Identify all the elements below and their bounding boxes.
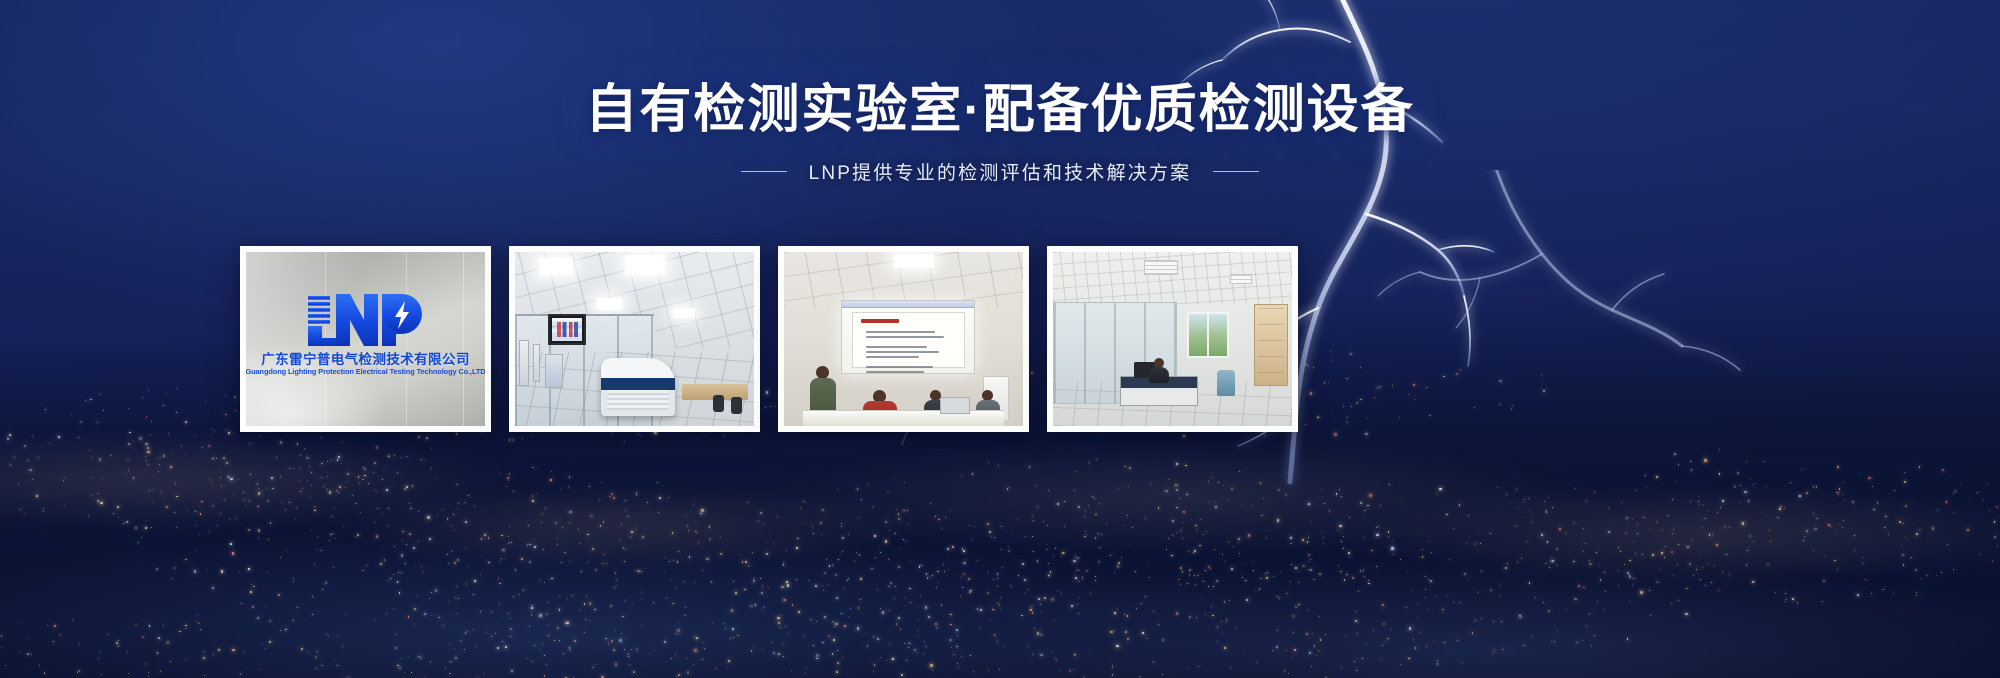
company-name-english: Guangdong Lighting Protection Electrical… <box>246 367 485 376</box>
photo-4-content <box>1053 252 1292 426</box>
meeting-table <box>803 410 1004 426</box>
ceiling-light <box>625 255 665 275</box>
slide-text-line <box>866 351 940 353</box>
gallery-photo-company-signage[interactable]: 广东雷宁普电气检测技术有限公司 Guangdong Lighting Prote… <box>240 246 491 432</box>
hero-text-block: 自有检测实验室·配备优质检测设备 LNP提供专业的检测评估和技术解决方案 <box>0 0 2000 246</box>
ceiling-light <box>894 254 934 268</box>
hero-banner: 自有检测实验室·配备优质检测设备 LNP提供专业的检测评估和技术解决方案 <box>0 0 2000 678</box>
lab-chair <box>731 397 742 414</box>
slide-window-titlebar <box>842 301 974 308</box>
office-worker-person <box>1149 358 1169 380</box>
lab-equipment-rack <box>533 344 540 382</box>
lab-equipment-rack <box>519 340 529 386</box>
slide-text-line <box>866 336 944 338</box>
lab-chair <box>713 395 724 412</box>
slide-heading <box>861 319 899 323</box>
ceiling-vent <box>1230 274 1252 284</box>
office-chair <box>1217 370 1235 396</box>
lab-equipment-rack <box>545 354 563 388</box>
slide-text-line <box>866 346 927 348</box>
company-name-chinese: 广东雷宁普电气检测技术有限公司 <box>261 348 470 368</box>
slide-text-line <box>866 371 924 373</box>
slide-text-line <box>866 331 935 333</box>
dash-right-decoration <box>1213 171 1259 172</box>
lnp-logo-icon <box>306 290 426 351</box>
ceiling-light <box>596 298 622 310</box>
glass-seam <box>463 252 464 426</box>
tv-screen <box>552 318 582 341</box>
ceiling-vent <box>1144 260 1178 275</box>
wall-mounted-tv <box>548 314 586 345</box>
photo-gallery-strip: 广东雷宁普电气检测技术有限公司 Guangdong Lighting Prote… <box>240 246 1760 432</box>
laptop <box>940 397 970 414</box>
gallery-photo-office-workspace[interactable] <box>1047 246 1298 432</box>
projector-screen <box>841 300 975 374</box>
lab-control-console <box>601 358 675 416</box>
page-subtitle: LNP提供专业的检测评估和技术解决方案 <box>809 158 1192 185</box>
page-title: 自有检测实验室·配备优质检测设备 <box>585 84 1414 136</box>
office-window <box>1187 312 1229 358</box>
slide-text-line <box>866 366 933 368</box>
slide-text-line <box>866 356 919 358</box>
photo-3-content <box>784 252 1023 426</box>
ceiling-light <box>673 308 695 318</box>
photo-2-content <box>515 252 754 426</box>
gallery-photo-testing-laboratory[interactable] <box>509 246 760 432</box>
dash-left-decoration <box>741 171 787 172</box>
ceiling-light <box>539 258 573 275</box>
subtitle-row: LNP提供专业的检测评估和技术解决方案 <box>741 158 1260 185</box>
person-body <box>1149 367 1169 383</box>
office-cabinet <box>1254 304 1288 386</box>
photo-1-content: 广东雷宁普电气检测技术有限公司 Guangdong Lighting Prote… <box>246 252 485 426</box>
gallery-photo-meeting-room[interactable] <box>778 246 1029 432</box>
slide-document <box>852 312 965 368</box>
